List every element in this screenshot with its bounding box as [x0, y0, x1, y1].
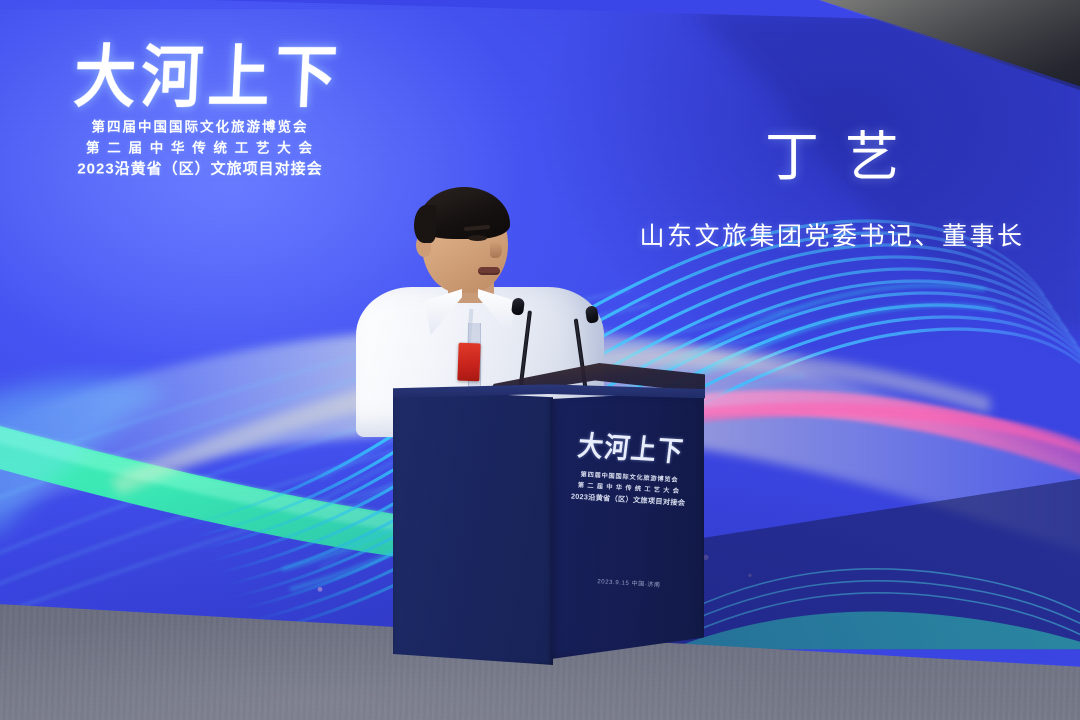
speaker-mouth — [478, 267, 500, 275]
podium-logo-block: 大河上下 第四届中国国际文化旅游博览会 第 二 届 中 华 传 统 工 艺 大 … — [563, 425, 697, 511]
speaker-name-badge — [457, 343, 480, 382]
podium-lectern: 大河上下 第四届中国国际文化旅游博览会 第 二 届 中 华 传 统 工 艺 大 … — [393, 381, 705, 671]
podium-face-left — [393, 389, 553, 665]
speaker-eye — [468, 235, 487, 241]
speaker-sideburn — [414, 205, 436, 243]
event-logo-block: 大河上下 第四届中国国际文化旅游博览会 第 二 届 中 华 传 统 工 艺 大 … — [74, 45, 326, 181]
speaker-nose — [490, 241, 502, 258]
podium-logo-brush-title: 大河上下 — [564, 423, 699, 471]
event-subtitle-line-3: 2023沿黄省（区）文旅项目对接会 — [74, 159, 326, 182]
event-logo-brush-title: 大河上下 — [72, 42, 327, 112]
event-subtitle-line-2: 第 二 届 中 华 传 统 工 艺 大 会 — [74, 138, 326, 159]
event-subtitle-line-1: 第四届中国国际文化旅游博览会 — [74, 118, 326, 139]
conference-stage-photo: 大河上下 第四届中国国际文化旅游博览会 第 二 届 中 华 传 统 工 艺 大 … — [0, 0, 1080, 720]
speaker-title: 山东文旅集团党委书记、董事长 — [612, 217, 1052, 253]
event-logo-subtitles: 第四届中国国际文化旅游博览会 第 二 届 中 华 传 统 工 艺 大 会 202… — [74, 118, 326, 182]
speaker-name-panel: 丁艺 山东文旅集团党委书记、董事长 — [612, 127, 1052, 252]
speaker-name: 丁艺 — [612, 127, 1052, 186]
